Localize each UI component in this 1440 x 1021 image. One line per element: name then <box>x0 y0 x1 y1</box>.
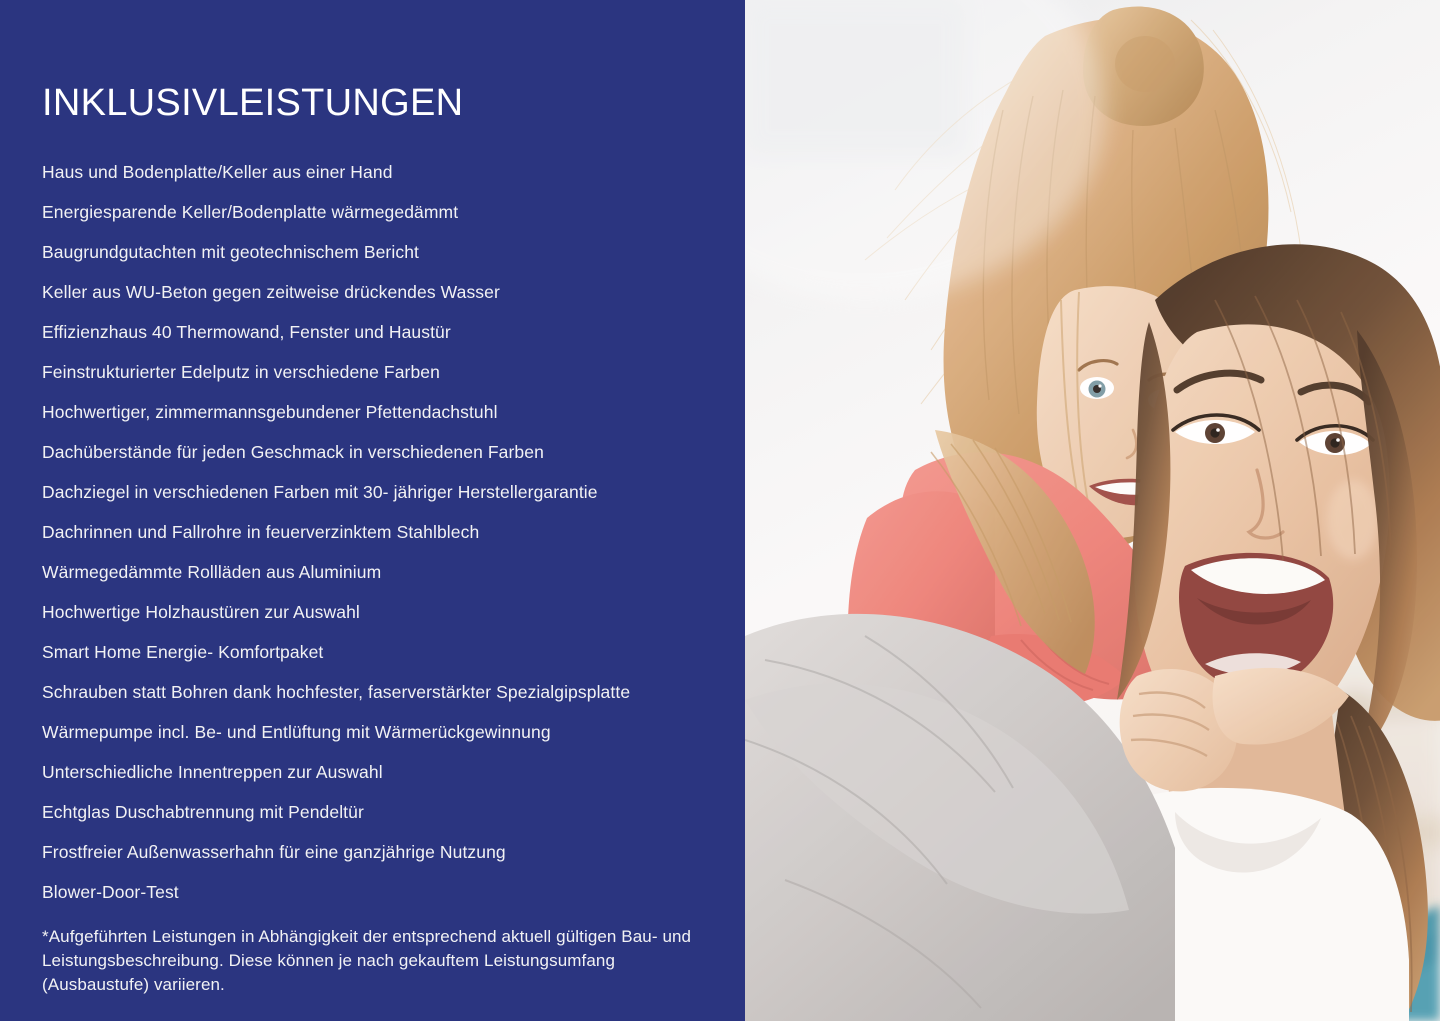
inclusive-services-panel: INKLUSIVLEISTUNGEN Haus und Bodenplatte/… <box>0 0 745 1021</box>
list-item: Smart Home Energie- Komfortpaket <box>42 632 722 672</box>
list-item: Frostfreier Außenwasserhahn für eine gan… <box>42 832 722 872</box>
list-item: Schrauben statt Bohren dank hochfester, … <box>42 672 722 712</box>
list-item: Wärmepumpe incl. Be- und Entlüftung mit … <box>42 712 722 752</box>
list-item: Baugrundgutachten mit geotechnischem Ber… <box>42 232 722 272</box>
list-item: Haus und Bodenplatte/Keller aus einer Ha… <box>42 152 722 192</box>
list-item: Blower-Door-Test <box>42 872 722 912</box>
slide-root: INKLUSIVLEISTUNGEN Haus und Bodenplatte/… <box>0 0 1440 1021</box>
family-photo <box>745 0 1440 1021</box>
list-item: Echtglas Duschabtrennung mit Pendeltür <box>42 792 722 832</box>
list-item: Keller aus WU-Beton gegen zeitweise drüc… <box>42 272 722 312</box>
mother-and-daughter-photo-illustration <box>745 0 1440 1021</box>
benefits-list: Haus und Bodenplatte/Keller aus einer Ha… <box>42 152 722 912</box>
list-item: Dachziegel in verschiedenen Farben mit 3… <box>42 472 722 512</box>
list-item: Dachüberstände für jeden Geschmack in ve… <box>42 432 722 472</box>
list-item: Feinstrukturierter Edelputz in verschied… <box>42 352 722 392</box>
list-item: Wärmegedämmte Rollläden aus Aluminium <box>42 552 722 592</box>
page-title: INKLUSIVLEISTUNGEN <box>42 84 463 122</box>
footnote-disclaimer: *Aufgeführten Leistungen in Abhängigkeit… <box>42 925 712 997</box>
list-item: Energiesparende Keller/Bodenplatte wärme… <box>42 192 722 232</box>
list-item: Effizienzhaus 40 Thermowand, Fenster und… <box>42 312 722 352</box>
list-item: Dachrinnen und Fallrohre in feuerverzink… <box>42 512 722 552</box>
list-item: Unterschiedliche Innentreppen zur Auswah… <box>42 752 722 792</box>
list-item: Hochwertige Holzhaustüren zur Auswahl <box>42 592 722 632</box>
list-item: Hochwertiger, zimmermannsgebundener Pfet… <box>42 392 722 432</box>
